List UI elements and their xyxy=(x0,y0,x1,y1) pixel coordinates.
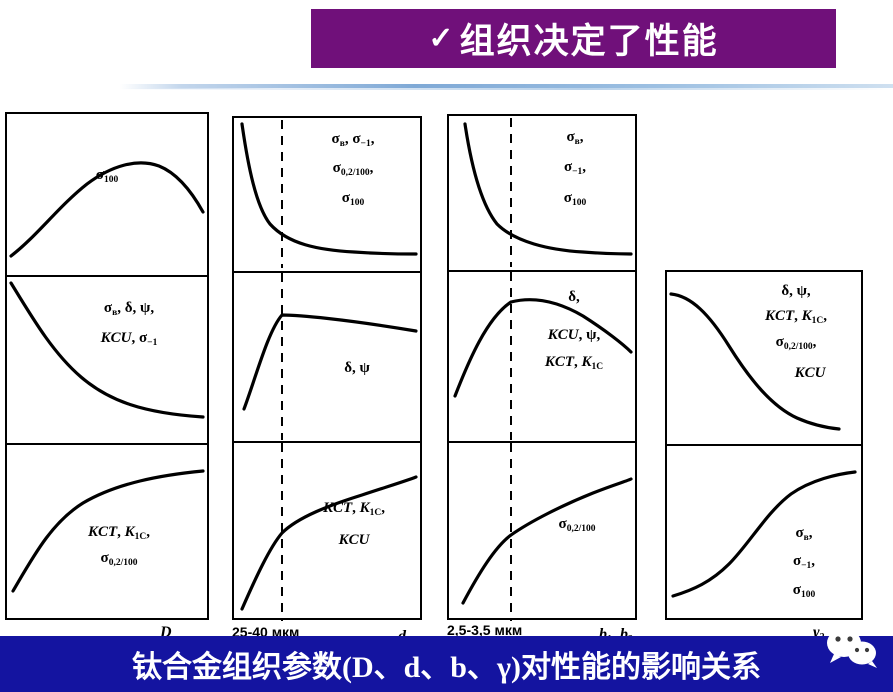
header-divider-highlight xyxy=(120,88,893,90)
panel-D-3: KCT, K1C, σ0,2/100 xyxy=(7,443,207,617)
panel-d-2: δ, ψ xyxy=(234,271,420,441)
chart-column-gamma: δ, ψ, KCT, K1C, σ0,2/100, KCU σв, σ−1, σ… xyxy=(665,270,865,628)
panel-D-1: σ100 xyxy=(7,114,207,275)
panel-b-3-label: σ0,2/100 xyxy=(521,515,633,533)
panel-d-3-label: KCT, K1C, KCU xyxy=(290,499,418,550)
figure-area: σ100 σв, δ, ψ, KCU, σ−1 KCT, K1C, σ0 xyxy=(0,100,893,630)
chart-column-b: σв, σ−1, σ100 δ, KCU, ψ, KCT, K1C xyxy=(447,114,639,628)
curve-sigma100 xyxy=(7,114,207,272)
caption-bar: 钛合金组织参数(D、d、b、γ)对性能的影响关系 xyxy=(0,636,893,692)
panel-g-2-label: σв, σ−1, σ100 xyxy=(749,524,859,599)
panel-D-1-label: σ100 xyxy=(7,166,207,184)
panel-g-1-label: δ, ψ, KCT, K1C, σ0,2/100, KCU xyxy=(733,282,859,382)
panel-g-1: δ, ψ, KCT, K1C, σ0,2/100, KCU xyxy=(667,272,861,444)
panel-d-2-label: δ, ψ xyxy=(296,359,418,377)
panel-d-3: KCT, K1C, KCU xyxy=(234,441,420,622)
panel-D-2: σв, δ, ψ, KCU, σ−1 xyxy=(7,275,207,443)
panel-D-2-label: σв, δ, ψ, KCU, σ−1 xyxy=(55,299,203,348)
curve-delta-psi-d xyxy=(234,273,420,440)
panel-g-2: σв, σ−1, σ100 xyxy=(667,444,861,622)
panel-b-1: σв, σ−1, σ100 xyxy=(449,116,635,270)
panel-D-3-label: KCT, K1C, σ0,2/100 xyxy=(35,523,203,568)
panel-stack-b: σв, σ−1, σ100 δ, KCU, ψ, KCT, K1C xyxy=(447,114,637,620)
panel-b-2-label: δ, KCU, ψ, KCT, K1C xyxy=(515,288,633,371)
panel-b-2: δ, KCU, ψ, KCT, K1C xyxy=(449,270,635,441)
chart-column-D: σ100 σв, δ, ψ, KCU, σ−1 KCT, K1C, σ0 xyxy=(5,112,209,627)
panel-d-1: σв, σ−1, σ0,2/100, σ100 xyxy=(234,118,420,271)
panel-stack-gamma: δ, ψ, KCT, K1C, σ0,2/100, KCU σв, σ−1, σ… xyxy=(665,270,863,620)
panel-stack-d: σв, σ−1, σ0,2/100, σ100 δ, ψ xyxy=(232,116,422,620)
panel-b-1-label: σв, σ−1, σ100 xyxy=(517,128,633,207)
chart-column-d: σв, σ−1, σ0,2/100, σ100 δ, ψ xyxy=(232,116,424,628)
checkmark-icon: ✓ xyxy=(428,21,453,56)
panel-stack-D: σ100 σв, δ, ψ, KCU, σ−1 KCT, K1C, σ0 xyxy=(5,112,209,620)
panel-d-1-label: σв, σ−1, σ0,2/100, σ100 xyxy=(288,130,418,207)
page-title: 组织决定了性能 xyxy=(460,13,719,64)
caption-text: 钛合金组织参数(D、d、b、γ)对性能的影响关系 xyxy=(132,642,761,686)
title-banner: ✓ 组织决定了性能 xyxy=(311,9,836,68)
panel-b-3: σ0,2/100 xyxy=(449,441,635,622)
